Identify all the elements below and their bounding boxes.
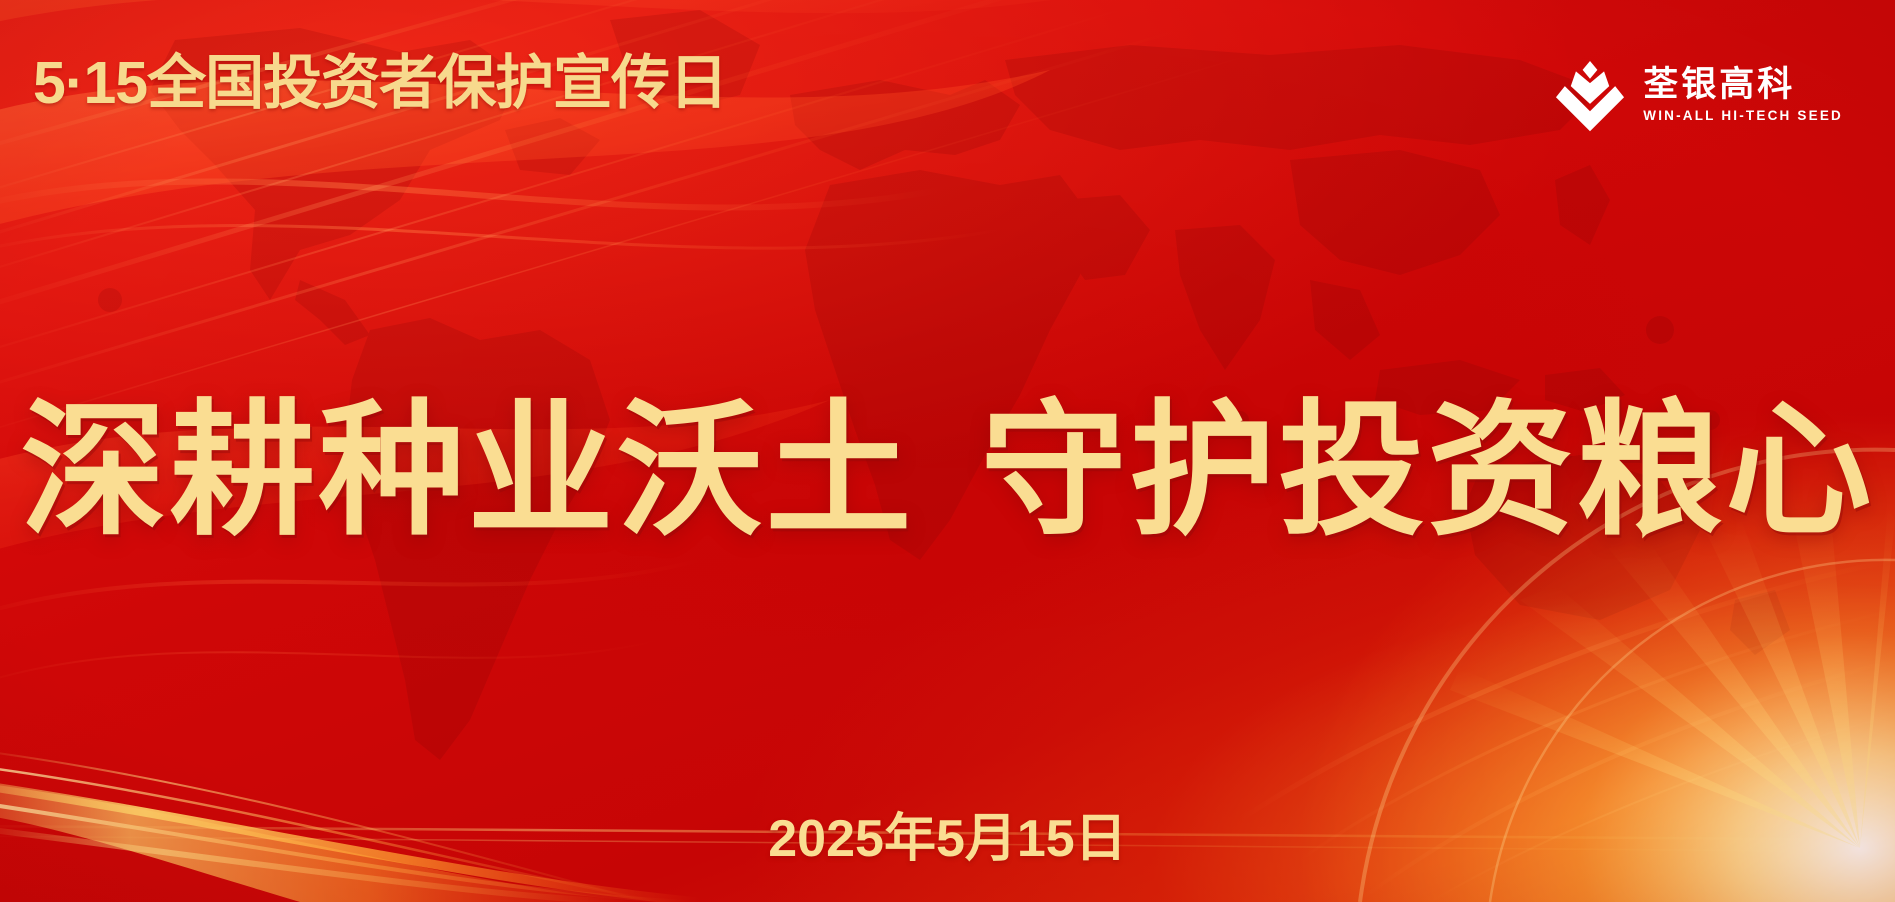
logo-company-name-en: WIN-ALL HI-TECH SEED bbox=[1643, 109, 1843, 123]
logo-wordmark: 荃银高科 WIN-ALL HI-TECH SEED bbox=[1643, 67, 1843, 123]
investor-protection-day-banner: 5·15全国投资者保护宣传日 荃银高科 WIN-ALL HI-TECH SEE bbox=[0, 0, 1895, 902]
main-headline: 深耕种业沃土守护投资粮心 bbox=[0, 398, 1895, 544]
headline-second-phrase: 守护投资粮心 bbox=[981, 389, 1875, 552]
banner-content: 5·15全国投资者保护宣传日 荃银高科 WIN-ALL HI-TECH SEE bbox=[0, 0, 1895, 902]
logo-company-name-cn: 荃银高科 bbox=[1643, 67, 1795, 102]
headline-first-phrase: 深耕种业沃土 bbox=[21, 389, 915, 552]
win-all-chevron-icon bbox=[1553, 58, 1627, 132]
event-date: 2025年5月15日 bbox=[0, 796, 1895, 871]
company-logo: 荃银高科 WIN-ALL HI-TECH SEED bbox=[1553, 58, 1843, 132]
campaign-subtitle: 5·15全国投资者保护宣传日 bbox=[33, 50, 727, 116]
